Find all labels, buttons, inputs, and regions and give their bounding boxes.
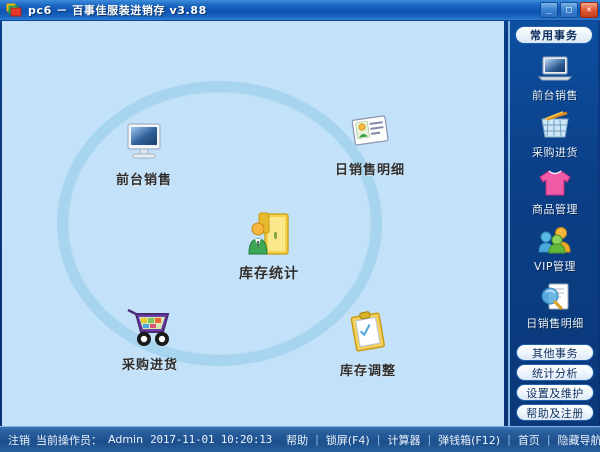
sidebar-button-help-register[interactable]: 帮助及注册 [516, 404, 594, 421]
app-logo-icon [4, 2, 24, 18]
status-bar: 注销 当前操作员： Admin 2017-11-01 10:20:13 帮助 |… [0, 426, 600, 452]
minimize-button[interactable]: _ [540, 2, 558, 18]
sidebar-button-other-tasks[interactable]: 其他事务 [516, 344, 594, 361]
sidebar-item-front-desk-sales[interactable]: 前台销售 [510, 52, 600, 103]
sidebar-item-label: VIP管理 [510, 258, 600, 274]
laptop-icon [510, 52, 600, 86]
monitor-icon [84, 117, 204, 165]
workspace-node-inventory-adjust[interactable]: 库存调整 [308, 308, 428, 379]
sidebar-item-label: 前台销售 [510, 87, 600, 103]
application-window: pc6 － 百事佳服装进销存 v3.88 _ □ ✕ [0, 0, 600, 452]
clipboard-icon [308, 308, 428, 356]
workspace-node-label: 库存调整 [308, 360, 428, 379]
sidebar-item-product-manage[interactable]: 商品管理 [510, 166, 600, 217]
window-controls: _ □ ✕ [540, 2, 598, 18]
workspace: 前台销售 日销售明细 [2, 21, 504, 426]
basket-icon [510, 109, 600, 143]
close-button[interactable]: ✕ [580, 2, 598, 18]
title-bar: pc6 － 百事佳服装进销存 v3.88 _ □ ✕ [0, 0, 600, 20]
sidebar-button-stat-analysis[interactable]: 统计分析 [516, 364, 594, 381]
sidebar-item-label: 商品管理 [510, 201, 600, 217]
maximize-button[interactable]: □ [560, 2, 578, 18]
status-right: 2017-11-01 10:20:13 帮助 | 锁屏(F4) | 计算器 | … [143, 432, 600, 448]
sidebar-item-label: 采购进货 [510, 144, 600, 160]
status-item-help[interactable]: 帮助 [279, 432, 315, 448]
sidebar-header-common-tasks[interactable]: 常用事务 [515, 26, 593, 44]
window-title: pc6 － 百事佳服装进销存 v3.88 [28, 2, 207, 18]
operator-name: Admin [108, 433, 143, 446]
sidebar-section-buttons: 其他事务 统计分析 设置及维护 帮助及注册 [516, 344, 594, 424]
workspace-node-purchase-stock-in[interactable]: 采购进货 [90, 302, 210, 373]
sidebar-item-daily-sales-detail[interactable]: 日销售明细 [510, 280, 600, 331]
operator-label: 当前操作员： [36, 432, 102, 448]
logout-link[interactable]: 注销 [8, 432, 30, 448]
workspace-node-label: 前台销售 [84, 169, 204, 188]
status-left: 注销 当前操作员： Admin [0, 432, 143, 448]
datetime-display: 2017-11-01 10:20:13 [143, 433, 279, 446]
sidebar-item-purchase-stock-in[interactable]: 采购进货 [510, 109, 600, 160]
sidebar-item-label: 日销售明细 [510, 315, 600, 331]
status-item-home[interactable]: 首页 [511, 432, 547, 448]
status-item-lock-screen[interactable]: 锁屏(F4) [319, 432, 377, 448]
workspace-node-front-desk-sales[interactable]: 前台销售 [84, 117, 204, 188]
workspace-node-inventory-stats[interactable]: 库存统计 [209, 211, 329, 283]
workspace-node-label: 日销售明细 [310, 159, 430, 178]
users-icon [510, 223, 600, 257]
sidebar-button-settings-maint[interactable]: 设置及维护 [516, 384, 594, 401]
person-cabinet-icon [209, 211, 329, 259]
sidebar-item-list: 前台销售 采购进货 [510, 52, 598, 331]
workspace-node-daily-sales-detail[interactable]: 日销售明细 [310, 107, 430, 178]
tshirt-icon [510, 166, 600, 200]
sidebar-item-vip-manage[interactable]: VIP管理 [510, 223, 600, 274]
workspace-node-label: 采购进货 [90, 354, 210, 373]
status-item-hide-nav[interactable]: 隐藏导航栏 [551, 432, 600, 448]
id-card-icon [310, 107, 430, 155]
status-item-calculator[interactable]: 计算器 [380, 432, 427, 448]
workspace-node-label: 库存统计 [209, 263, 329, 283]
doc-search-icon [510, 280, 600, 314]
status-item-cash-drawer[interactable]: 弹钱箱(F12) [431, 432, 507, 448]
shopping-cart-icon [90, 302, 210, 350]
navigation-sidebar: 常用事务 前台销售 [508, 21, 598, 426]
